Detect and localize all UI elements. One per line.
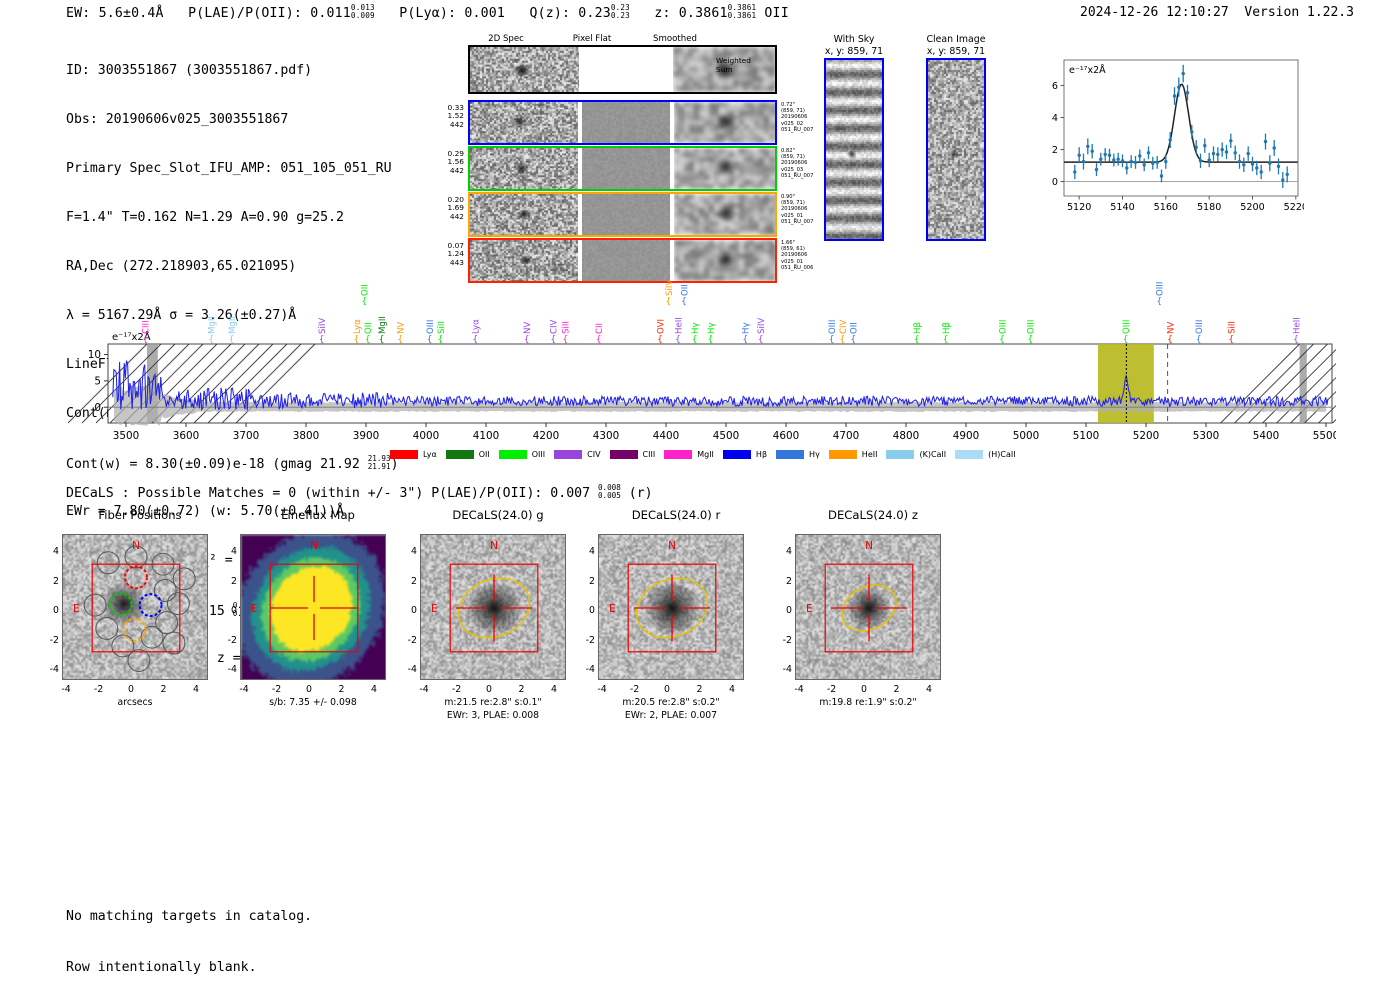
legend-item: HeII — [829, 450, 878, 459]
svg-text:SiIV: SiIV — [757, 318, 767, 334]
svg-text:OIII: OIII — [828, 320, 838, 334]
svg-text:5160: 5160 — [1154, 202, 1178, 213]
svg-text:{: { — [319, 335, 325, 345]
legend-item: CIV — [554, 450, 600, 459]
svg-text:{: { — [829, 335, 835, 345]
svg-text:5200: 5200 — [1240, 202, 1264, 213]
legend-swatch — [499, 450, 527, 459]
panel-y-tick: 4 — [223, 546, 237, 557]
svg-text:3900: 3900 — [353, 430, 379, 442]
cutout-title-line1: With Sky — [806, 34, 902, 46]
legend-label: CIII — [643, 450, 656, 459]
panel-y-tick: 2 — [778, 576, 792, 587]
panel-x-tick: -2 — [90, 684, 108, 695]
svg-text:SiII: SiII — [1228, 321, 1238, 334]
svg-text:E: E — [73, 603, 80, 615]
legend-swatch — [886, 450, 914, 459]
sky-clean-cutouts: With Skyx, y: 859, 71Clean Imagex, y: 85… — [818, 34, 1033, 254]
z-label: z: — [654, 6, 670, 21]
panel-y-tick: -2 — [223, 635, 237, 646]
legend-swatch — [955, 450, 983, 459]
panel-y-tick: -4 — [223, 664, 237, 675]
svg-text:4500: 4500 — [713, 430, 739, 442]
panel-image[interactable]: NE — [420, 534, 566, 680]
legend-swatch — [829, 450, 857, 459]
header-timestamp-version: 2024-12-26 12:10:27 Version 1.22.3 — [1080, 5, 1354, 20]
ew-label: EW: — [66, 6, 90, 21]
svg-text:{: { — [427, 335, 433, 345]
svg-text:2: 2 — [1052, 145, 1058, 156]
panel-x-tick: -4 — [415, 684, 433, 695]
spectrum-line-legend: LyαOIIOIIICIVCIIIMgIIHβHγHeII(K)CaII(H)C… — [390, 450, 1025, 459]
svg-text:OIII: OIII — [426, 320, 436, 334]
legend-item: CIII — [610, 450, 656, 459]
svg-text:MgII: MgII — [208, 316, 218, 334]
panel-y-tick: 0 — [223, 605, 237, 616]
ew-value: 5.6±0.4Å — [99, 6, 164, 21]
svg-text:NV: NV — [397, 322, 407, 334]
legend-label: (K)CaII — [919, 450, 946, 459]
legend-item: (K)CaII — [886, 450, 946, 459]
svg-text:{: { — [692, 335, 698, 345]
cutout-title: Clean Imagex, y: 859, 71 — [908, 34, 1004, 57]
svg-text:5100: 5100 — [1073, 430, 1099, 442]
svg-text:{: { — [550, 335, 556, 345]
svg-text:5500: 5500 — [1313, 430, 1336, 442]
svg-text:HeII: HeII — [674, 317, 684, 334]
svg-text:{: { — [142, 335, 148, 345]
svg-text:{: { — [229, 335, 235, 345]
panel-x-tick: -4 — [57, 684, 75, 695]
panel-x-tick: 2 — [155, 684, 173, 695]
col-title-pixelflat: Pixel Flat — [552, 34, 632, 44]
panel-x-tick: 4 — [365, 684, 383, 695]
legend-swatch — [554, 450, 582, 459]
panel-y-tick: 2 — [581, 576, 595, 587]
panel-y-tick: 4 — [581, 546, 595, 557]
panel-caption-1: m:19.8 re:1.9" s:0.2" — [768, 697, 968, 708]
svg-text:{: { — [681, 297, 687, 307]
cutout-title-line2: x, y: 859, 71 — [806, 46, 902, 58]
two-d-spectra-panel: 2D Spec Pixel Flat Smoothed WeightedSum … — [430, 34, 810, 252]
svg-text:E: E — [251, 603, 258, 615]
fiber-row — [468, 192, 777, 237]
svg-text:OIII: OIII — [998, 320, 1008, 334]
decals-header: DECaLS : Possible Matches = 0 (within +/… — [66, 484, 653, 501]
z-range: 0.38610.3861 — [728, 4, 757, 20]
decals-header-prefix: DECaLS : Possible Matches = 0 (within +/… — [66, 486, 598, 501]
panel-y-tick: 2 — [45, 576, 59, 587]
svg-text:MgII: MgII — [228, 316, 238, 334]
svg-text:{: { — [361, 297, 367, 307]
svg-text:4: 4 — [1052, 113, 1058, 124]
svg-text:{: { — [365, 335, 371, 345]
fiber-row-left-labels: 0.331.52442 — [426, 104, 464, 129]
panel-x-tick: 4 — [545, 684, 563, 695]
svg-text:SiIV: SiIV — [318, 318, 328, 334]
panel-title: DECaLS(24.0) r — [596, 508, 756, 522]
info-cont-w: Cont(w) = 8.30(±0.09)e-18 (gmag 21.92 21… — [66, 455, 399, 471]
svg-text:Hβ: Hβ — [913, 322, 923, 334]
svg-text:{: { — [666, 297, 672, 307]
svg-text:{: { — [438, 335, 444, 345]
plae-value: 0.011 — [310, 6, 351, 21]
svg-text:5300: 5300 — [1193, 430, 1219, 442]
plae-label: P(LAE)/P(OII): — [188, 6, 302, 21]
panel-x-tick: -4 — [790, 684, 808, 695]
qz-range: 0.230.23 — [611, 4, 630, 20]
legend-item: OIII — [499, 450, 545, 459]
panel-caption-1: s/b: 7.35 +/- 0.098 — [213, 697, 413, 708]
panel-x-tick: 2 — [888, 684, 906, 695]
panel-x-tick: 4 — [723, 684, 741, 695]
legend-label: OII — [479, 450, 490, 459]
svg-text:CIII: CIII — [142, 320, 152, 334]
footer-line-2: Row intentionally blank. — [66, 959, 312, 976]
panel-x-tick: -2 — [823, 684, 841, 695]
panel-x-tick: -2 — [448, 684, 466, 695]
svg-text:OII: OII — [680, 284, 690, 296]
legend-swatch — [446, 450, 474, 459]
svg-text:{: { — [708, 335, 714, 345]
weighted-sum-label: WeightedSum — [716, 56, 776, 74]
panel-image[interactable]: NE — [598, 534, 744, 680]
svg-text:{: { — [657, 335, 663, 345]
svg-text:N: N — [668, 540, 676, 552]
svg-text:{: { — [1167, 335, 1173, 345]
svg-text:5180: 5180 — [1197, 202, 1221, 213]
svg-text:{: { — [1228, 335, 1234, 345]
header-summary-line: EW: 5.6±0.4Å P(LAE)/P(OII): 0.0110.0130.… — [66, 4, 789, 21]
info-obs: Obs: 20190606v025_3003551867 — [66, 112, 399, 128]
svg-text:{: { — [472, 335, 478, 345]
svg-text:{: { — [758, 335, 764, 345]
svg-text:{: { — [850, 335, 856, 345]
panel-y-tick: 4 — [778, 546, 792, 557]
svg-text:{: { — [354, 335, 360, 345]
svg-text:5220: 5220 — [1284, 202, 1304, 213]
svg-text:CIV: CIV — [550, 319, 560, 334]
z-type: OII — [764, 6, 788, 21]
svg-text:N: N — [865, 540, 873, 552]
col-title-2dspec: 2D Spec — [466, 34, 546, 44]
footer-line-1: No matching targets in catalog. — [66, 908, 312, 925]
panel-x-tick: -4 — [235, 684, 253, 695]
cutout-title-line1: Clean Image — [908, 34, 1004, 46]
panel-title: DECaLS(24.0) g — [418, 508, 578, 522]
svg-text:HeII: HeII — [1292, 317, 1302, 334]
cutout-image — [824, 58, 884, 241]
svg-text:{: { — [596, 335, 602, 345]
svg-text:{: { — [208, 335, 214, 345]
panel-title: DECaLS(24.0) z — [793, 508, 953, 522]
panel-y-tick: -4 — [581, 664, 595, 675]
svg-text:Hβ: Hβ — [942, 322, 952, 334]
fiber-row-left-labels: 0.071.24443 — [426, 242, 464, 267]
svg-text:5400: 5400 — [1253, 430, 1279, 442]
svg-text:OII: OII — [850, 322, 860, 334]
panel-x-tick: 4 — [920, 684, 938, 695]
svg-text:SiII: SiII — [562, 321, 572, 334]
svg-text:SiII: SiII — [437, 321, 447, 334]
panel-caption-1: m:21.5 re:2.8" s:0.1" — [393, 697, 593, 708]
svg-text:E: E — [806, 603, 813, 615]
svg-text:4700: 4700 — [833, 430, 859, 442]
panel-x-tick: 2 — [333, 684, 351, 695]
panel-x-tick: 2 — [691, 684, 709, 695]
cutout-title: With Skyx, y: 859, 71 — [806, 34, 902, 57]
svg-text:Hγ: Hγ — [742, 322, 752, 334]
svg-text:3700: 3700 — [233, 430, 259, 442]
svg-text:{: { — [1196, 335, 1202, 345]
panel-y-tick: -2 — [778, 635, 792, 646]
z-value: 0.3861 — [679, 6, 728, 21]
cutout-panels-row: Fiber Positions420-2-4-4-2024NEarcsecsLi… — [0, 506, 1400, 746]
panel-y-tick: 0 — [45, 605, 59, 616]
legend-item: MgII — [664, 450, 714, 459]
panel-image[interactable]: NE — [240, 534, 386, 680]
cutout-title-line2: x, y: 859, 71 — [908, 46, 1004, 58]
panel-caption-2: EWr: 2, PLAE: 0.007 — [571, 710, 771, 721]
panel-caption-1: m:20.5 re:2.8" s:0.2" — [571, 697, 771, 708]
legend-item: Hβ — [723, 450, 767, 459]
svg-text:N: N — [490, 540, 498, 552]
svg-text:OVI: OVI — [656, 319, 666, 334]
legend-item: (H)CaII — [955, 450, 1015, 459]
panel-y-tick: 2 — [403, 576, 417, 587]
svg-text:6: 6 — [1052, 81, 1058, 92]
svg-text:4000: 4000 — [413, 430, 439, 442]
footer-note: No matching targets in catalog. Row inte… — [66, 874, 312, 993]
panel-y-tick: 2 — [223, 576, 237, 587]
svg-text:5000: 5000 — [1013, 430, 1039, 442]
timestamp: 2024-12-26 12:10:27 — [1080, 5, 1229, 20]
info-id: ID: 3003551867 (3003551867.pdf) — [66, 63, 399, 79]
svg-text:4400: 4400 — [653, 430, 679, 442]
legend-label: Hγ — [809, 450, 820, 459]
panel-x-tick: 0 — [658, 684, 676, 695]
panel-image[interactable]: NE — [795, 534, 941, 680]
svg-text:OII: OII — [361, 284, 371, 296]
legend-label: (H)CaII — [988, 450, 1015, 459]
svg-text:4800: 4800 — [893, 430, 919, 442]
svg-text:{: { — [1293, 335, 1299, 345]
panel-y-tick: 0 — [581, 605, 595, 616]
svg-text:0: 0 — [94, 402, 101, 414]
info-slot: Primary Spec_Slot_IFU_AMP: 051_105_051_R… — [66, 161, 399, 177]
decals-plae-range: 0.0080.005 — [598, 484, 621, 500]
svg-text:E: E — [609, 603, 616, 615]
svg-text:OIII: OIII — [1122, 320, 1132, 334]
panel-y-tick: 4 — [403, 546, 417, 557]
svg-text:3600: 3600 — [173, 430, 199, 442]
svg-text:{: { — [1027, 335, 1033, 345]
svg-text:OIII: OIII — [1156, 282, 1166, 296]
svg-text:{: { — [675, 335, 681, 345]
svg-text:4300: 4300 — [593, 430, 619, 442]
svg-text:OIII: OIII — [1195, 320, 1205, 334]
col-title-smoothed: Smoothed — [635, 34, 715, 44]
svg-text:{: { — [562, 335, 568, 345]
full-spectrum-chart: 3500360037003800390040004100420043004400… — [66, 272, 1336, 447]
svg-text:5200: 5200 — [1133, 430, 1159, 442]
fiber-row — [468, 100, 777, 145]
svg-text:{: { — [1123, 335, 1129, 345]
legend-swatch — [723, 450, 751, 459]
panel-x-tick: -4 — [593, 684, 611, 695]
panel-x-tick: 0 — [122, 684, 140, 695]
fiber-row — [468, 146, 777, 191]
panel-x-tick: 2 — [513, 684, 531, 695]
legend-label: MgII — [697, 450, 714, 459]
panel-xlabel: arcsecs — [35, 697, 235, 708]
panel-x-tick: 0 — [300, 684, 318, 695]
svg-text:4600: 4600 — [773, 430, 799, 442]
legend-label: Lyα — [423, 450, 437, 459]
svg-text:NV: NV — [523, 322, 533, 334]
svg-text:{: { — [742, 335, 748, 345]
svg-text:{: { — [943, 335, 949, 345]
svg-text:MgII: MgII — [378, 316, 388, 334]
panel-title: Lineflux Map — [238, 508, 398, 522]
panel-x-tick: 4 — [187, 684, 205, 695]
svg-text:{: { — [914, 335, 920, 345]
version-label: Version 1.22.3 — [1244, 5, 1354, 20]
legend-swatch — [390, 450, 418, 459]
svg-text:0: 0 — [1052, 177, 1058, 188]
legend-label: HeII — [862, 450, 878, 459]
info-seeing: F=1.4" T=0.162 N=1.29 A=0.90 g=25.2 — [66, 210, 399, 226]
panel-x-tick: -2 — [268, 684, 286, 695]
panel-y-tick: -2 — [45, 635, 59, 646]
svg-text:Lyα: Lyα — [472, 319, 482, 334]
svg-text:Hγ: Hγ — [691, 322, 701, 334]
fiber-row-left-labels: 0.291.56442 — [426, 150, 464, 175]
svg-text:3500: 3500 — [113, 430, 139, 442]
legend-swatch — [776, 450, 804, 459]
svg-text:N: N — [310, 540, 318, 552]
legend-item: Lyα — [390, 450, 437, 459]
panel-y-tick: 4 — [45, 546, 59, 557]
panel-y-tick: 0 — [403, 605, 417, 616]
svg-text:4100: 4100 — [473, 430, 499, 442]
legend-swatch — [664, 450, 692, 459]
legend-label: Hβ — [756, 450, 767, 459]
plae-range: 0.0130.009 — [351, 4, 375, 20]
svg-text:CIV: CIV — [839, 319, 849, 334]
svg-text:NV: NV — [1166, 322, 1176, 334]
panel-y-tick: -4 — [403, 664, 417, 675]
panel-y-tick: -4 — [45, 664, 59, 675]
qz-label: Q(z): — [529, 6, 570, 21]
svg-text:Lyα: Lyα — [353, 319, 363, 334]
svg-text:E: E — [431, 603, 438, 615]
svg-text:{: { — [840, 335, 846, 345]
svg-text:{: { — [397, 335, 403, 345]
svg-text:4200: 4200 — [533, 430, 559, 442]
svg-text:CII: CII — [595, 323, 605, 334]
panel-title: Fiber Positions — [60, 508, 220, 522]
svg-text:Hγ: Hγ — [707, 322, 717, 334]
emission-line-zoom-chart: 5120514051605180520052200246e⁻¹⁷x2Å — [1032, 52, 1304, 222]
svg-text:{: { — [999, 335, 1005, 345]
svg-text:e⁻¹⁷x2Å: e⁻¹⁷x2Å — [1069, 64, 1106, 76]
svg-text:OII: OII — [364, 322, 374, 334]
panel-y-tick: -4 — [778, 664, 792, 675]
panel-y-tick: 0 — [778, 605, 792, 616]
panel-x-tick: 0 — [855, 684, 873, 695]
decals-header-suffix: (r) — [621, 486, 653, 501]
svg-text:5: 5 — [94, 375, 101, 387]
panel-y-tick: -2 — [403, 635, 417, 646]
svg-text:{: { — [1156, 297, 1162, 307]
panel-y-tick: -2 — [581, 635, 595, 646]
svg-text:5140: 5140 — [1110, 202, 1134, 213]
cutout-image — [926, 58, 986, 241]
svg-text:{: { — [524, 335, 530, 345]
legend-label: OIII — [532, 450, 545, 459]
panel-caption-2: EWr: 3, PLAE: 0.008 — [393, 710, 593, 721]
legend-item: OII — [446, 450, 490, 459]
legend-item: Hγ — [776, 450, 820, 459]
svg-text:{: { — [379, 335, 385, 345]
svg-text:4900: 4900 — [953, 430, 979, 442]
panel-x-tick: 0 — [480, 684, 498, 695]
fiber-row-left-labels: 0.201.69442 — [426, 196, 464, 221]
svg-text:3800: 3800 — [293, 430, 319, 442]
plya-value: 0.001 — [464, 6, 505, 21]
legend-label: CIV — [587, 450, 600, 459]
svg-text:10: 10 — [88, 349, 101, 361]
panel-x-tick: -2 — [626, 684, 644, 695]
panel-image[interactable]: NE — [62, 534, 208, 680]
svg-text:OIII: OIII — [1027, 320, 1037, 334]
legend-swatch — [610, 450, 638, 459]
qz-value: 0.23 — [578, 6, 611, 21]
svg-text:5120: 5120 — [1067, 202, 1091, 213]
svg-text:SiIV: SiIV — [665, 280, 675, 296]
plya-label: P(Lyα): — [399, 6, 456, 21]
